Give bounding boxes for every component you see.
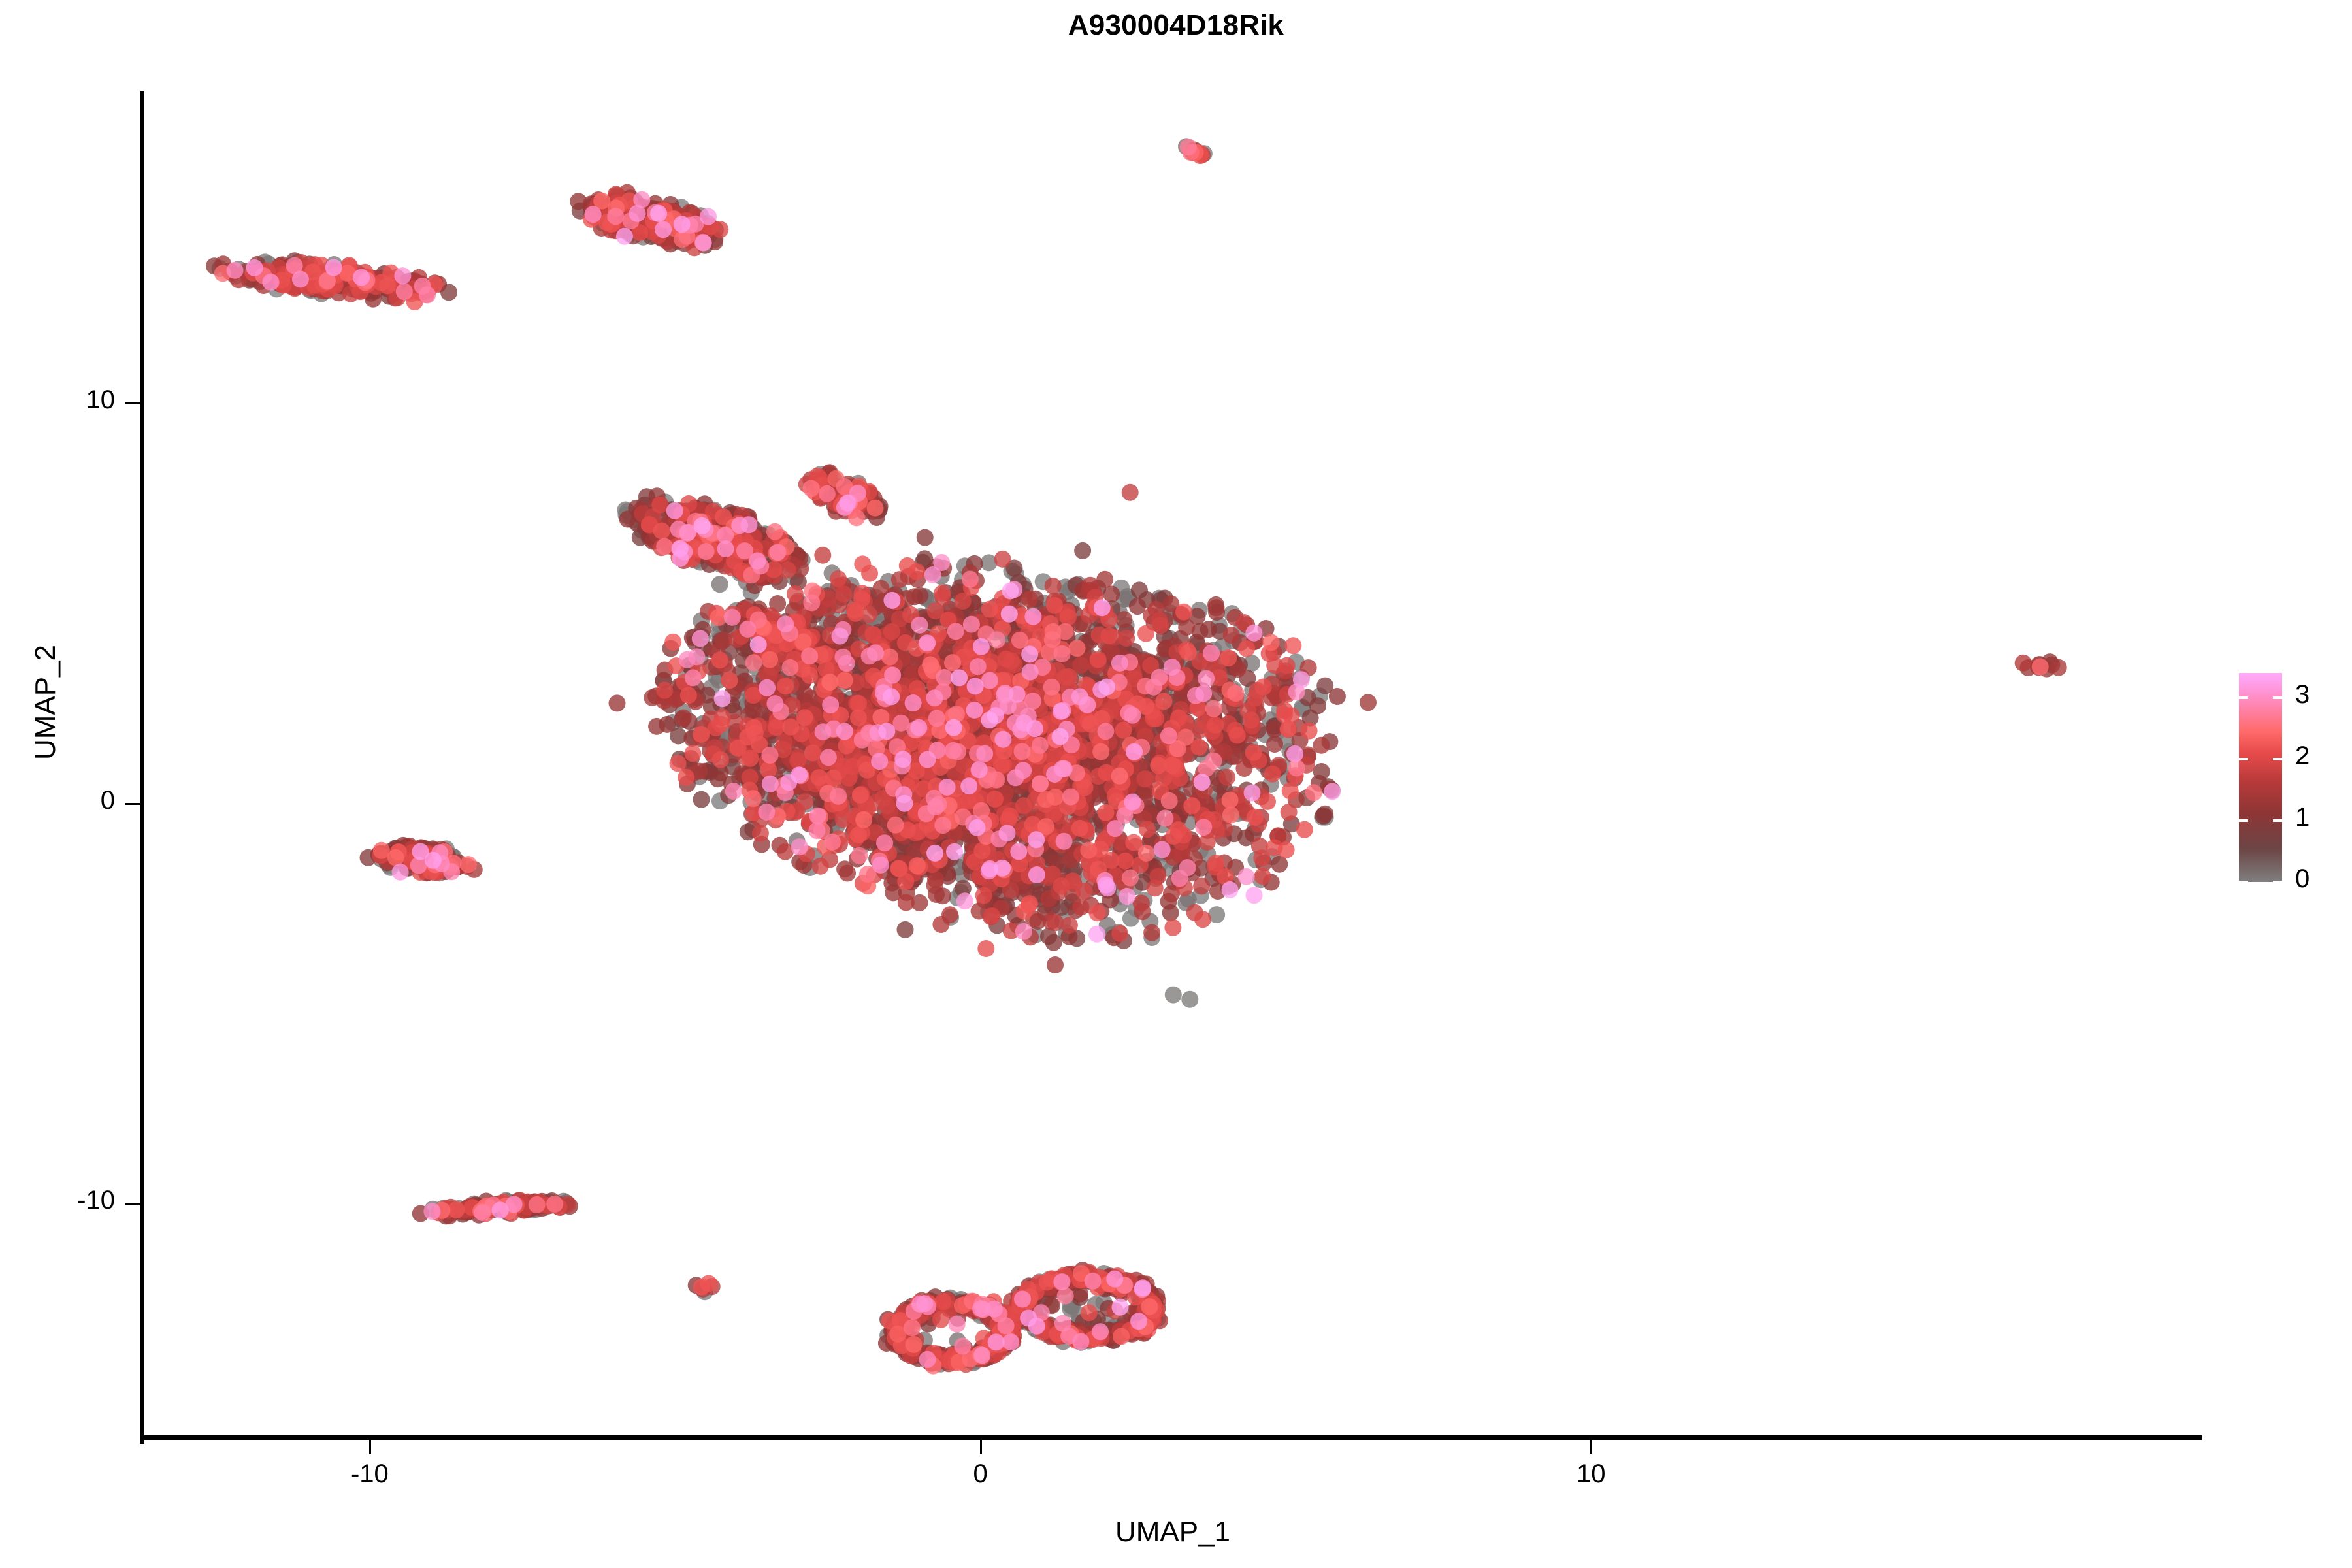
- colorbar-tick-label: 2: [2295, 742, 2352, 771]
- x-tick-mark: [1590, 1440, 1592, 1454]
- x-tick-label: 10: [1493, 1460, 1689, 1489]
- colorbar-tick-label: 3: [2295, 680, 2352, 710]
- x-tick-mark: [369, 1440, 371, 1454]
- x-tick-label: 0: [883, 1460, 1079, 1489]
- colorbar-tick-mark: [2239, 696, 2248, 699]
- y-axis-line: [140, 91, 144, 1444]
- x-tick-mark: [980, 1440, 982, 1454]
- y-tick-mark: [125, 402, 140, 404]
- y-tick-mark: [125, 1203, 140, 1205]
- page-title: A930004D18Rik: [0, 9, 2352, 42]
- x-tick-label: -10: [272, 1460, 468, 1489]
- colorbar-tick-label: 1: [2295, 803, 2352, 832]
- y-tick-mark: [125, 803, 140, 805]
- x-axis-line: [140, 1435, 2202, 1440]
- colorbar-tick-mark: [2239, 758, 2248, 760]
- colorbar-tick-mark: [2273, 819, 2282, 822]
- colorbar-gradient: [2239, 673, 2282, 882]
- colorbar-tick-label: 0: [2295, 864, 2352, 894]
- x-axis-title: UMAP_1: [144, 1516, 2202, 1548]
- y-tick-label: -10: [0, 1186, 115, 1215]
- color-legend: 3210: [2239, 673, 2337, 889]
- colorbar-tick-mark: [2273, 758, 2282, 760]
- scatter-points-layer: [144, 91, 2202, 1439]
- colorbar-tick-mark: [2273, 696, 2282, 699]
- y-tick-label: 10: [0, 385, 115, 415]
- y-axis-title: UMAP_2: [29, 565, 62, 840]
- plot-panel: [144, 91, 2202, 1439]
- colorbar-tick-mark: [2239, 881, 2248, 883]
- colorbar-tick-mark: [2273, 881, 2282, 883]
- umap-feature-plot: A930004D18Rik -10010 100-10 UMAP_1 UMAP_…: [0, 0, 2352, 1568]
- colorbar-tick-mark: [2239, 819, 2248, 822]
